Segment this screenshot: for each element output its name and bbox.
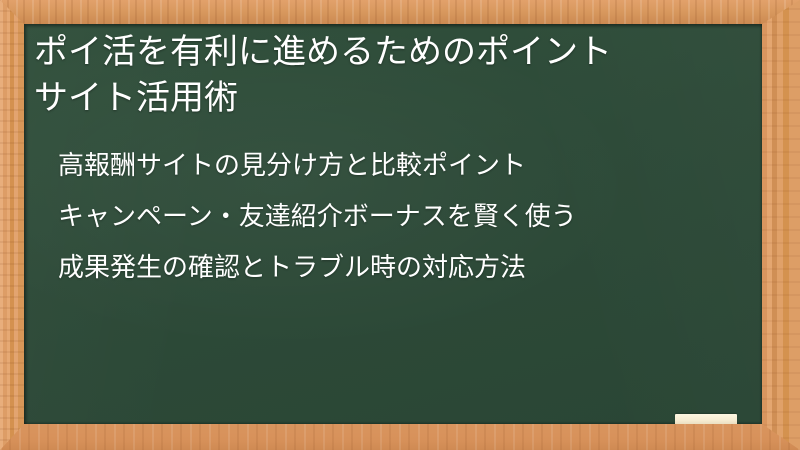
slide-title: ポイ活を有利に進めるためのポイント サイト活用術 xyxy=(34,29,734,121)
list-item: 高報酬サイトの見分け方と比較ポイント xyxy=(58,152,728,180)
list-item: 成果発生の確認とトラブル時の対応方法 xyxy=(58,254,728,282)
topic-list: 高報酬サイトの見分け方と比較ポイント キャンペーン・友達紹介ボーナスを賢く使う … xyxy=(58,152,728,282)
chalkboard-surface: ポイ活を有利に進めるためのポイント サイト活用術 高報酬サイトの見分け方と比較ポ… xyxy=(24,24,762,424)
frame-plank-left xyxy=(0,0,24,450)
frame-plank-bottom xyxy=(0,424,800,450)
chalk-stick xyxy=(675,414,737,424)
frame-plank-right xyxy=(762,0,800,450)
frame-plank-top xyxy=(0,0,800,24)
chalkboard-slide: ポイ活を有利に進めるためのポイント サイト活用術 高報酬サイトの見分け方と比較ポ… xyxy=(0,0,800,450)
list-item: キャンペーン・友達紹介ボーナスを賢く使う xyxy=(58,203,728,231)
